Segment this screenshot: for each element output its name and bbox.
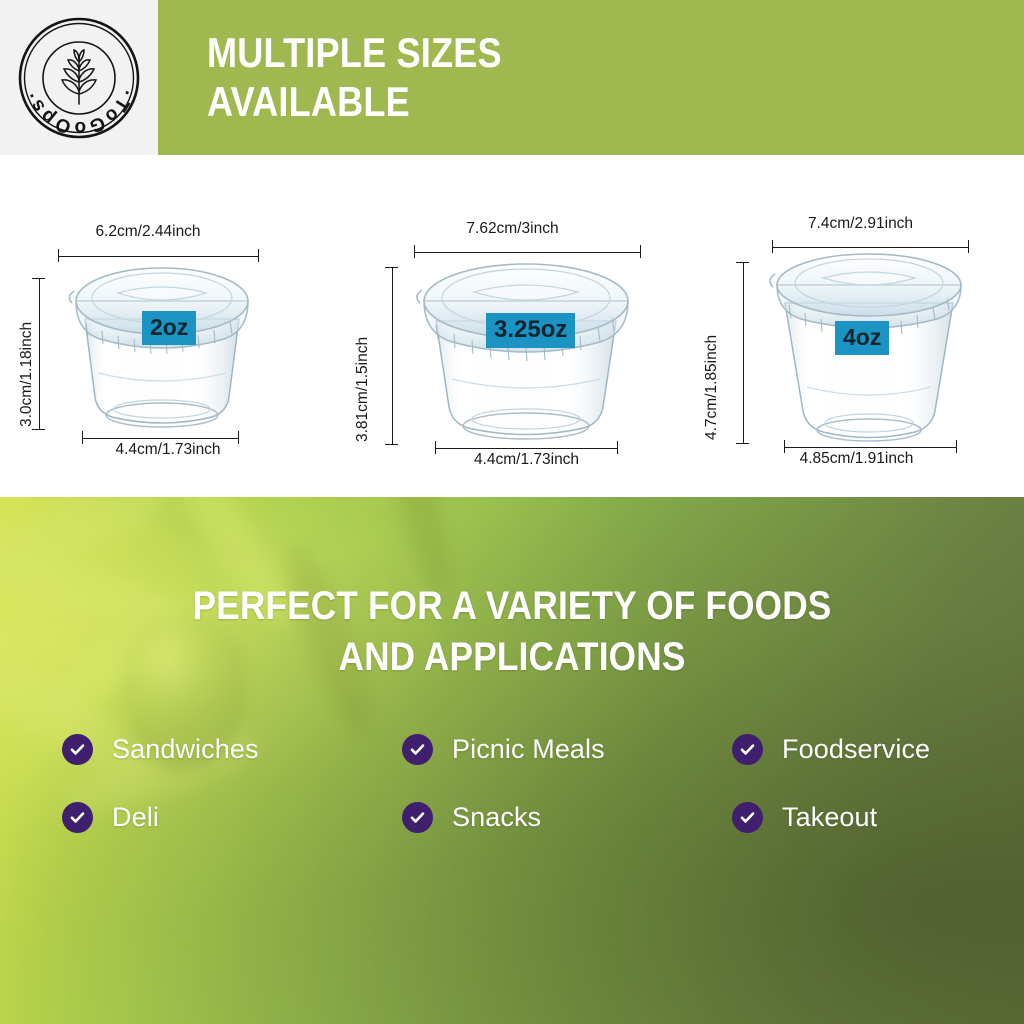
applications-title: PERFECT FOR A VARIETY OF FOODS AND APPLI… <box>61 581 962 683</box>
dimension-rule-side <box>385 267 398 445</box>
header-title: MULTIPLE SIZES AVAILABLE <box>207 28 861 126</box>
cup-image-3-25oz: 3.25oz <box>408 251 644 452</box>
check-icon <box>62 734 93 765</box>
check-icon <box>62 802 93 833</box>
dimension-top-width: 7.62cm/3inch <box>340 220 685 238</box>
capacity-badge-2oz: 2oz <box>142 311 196 345</box>
feature-item-picnic-meals: Picnic Meals <box>402 734 732 765</box>
applications-panel: PERFECT FOR A VARIETY OF FOODS AND APPLI… <box>0 497 1024 1024</box>
check-icon <box>732 734 763 765</box>
olive-branch-stamp-logo-icon: ·ToGoOps· <box>17 16 141 140</box>
size-item-4oz: 7.4cm/2.91inch 4.7cm/1.85inch <box>685 155 1024 495</box>
cup-image-2oz: 2oz <box>62 257 262 440</box>
feature-label: Deli <box>112 802 159 833</box>
feature-label: Sandwiches <box>112 734 259 765</box>
dimension-bottom-width: 4.85cm/1.91inch <box>687 450 1024 468</box>
brand-logo: ·ToGoOps· <box>0 0 158 155</box>
dimension-bottom-width: 4.4cm/1.73inch <box>0 441 338 459</box>
dimension-top-width: 7.4cm/2.91inch <box>691 215 1024 233</box>
feature-item-sandwiches: Sandwiches <box>62 734 402 765</box>
feature-item-deli: Deli <box>62 802 402 833</box>
dimension-rule-side <box>736 262 749 444</box>
capacity-badge-4oz: 4oz <box>835 321 889 355</box>
feature-label: Snacks <box>452 802 541 833</box>
sizes-panel: 6.2cm/2.44inch 3.0cm/1.18inch <box>0 155 1024 495</box>
dimension-rule-side <box>32 278 45 430</box>
feature-label: Takeout <box>782 802 877 833</box>
check-icon <box>732 802 763 833</box>
feature-item-snacks: Snacks <box>402 802 732 833</box>
infographic-page: ·ToGoOps· MUL <box>0 0 1024 1024</box>
size-item-3-25oz: 7.62cm/3inch 3.81cm/1.5inch <box>340 155 685 495</box>
feature-label: Foodservice <box>782 734 930 765</box>
header-banner: ·ToGoOps· MUL <box>0 0 1024 155</box>
cup-image-4oz: 4oz <box>763 245 975 456</box>
dimension-height: 3.81cm/1.5inch <box>354 337 372 442</box>
dimension-height: 4.7cm/1.85inch <box>703 335 721 440</box>
features-list: Sandwiches Picnic Meals Foodservice Deli <box>62 715 972 851</box>
feature-label: Picnic Meals <box>452 734 605 765</box>
dimension-bottom-width: 4.4cm/1.73inch <box>354 451 699 469</box>
size-item-2oz: 6.2cm/2.44inch 3.0cm/1.18inch <box>0 155 340 495</box>
feature-item-takeout: Takeout <box>732 802 972 833</box>
capacity-badge-3-25oz: 3.25oz <box>486 313 575 348</box>
check-icon <box>402 734 433 765</box>
dimension-top-width: 6.2cm/2.44inch <box>0 223 318 241</box>
check-icon <box>402 802 433 833</box>
feature-item-foodservice: Foodservice <box>732 734 972 765</box>
